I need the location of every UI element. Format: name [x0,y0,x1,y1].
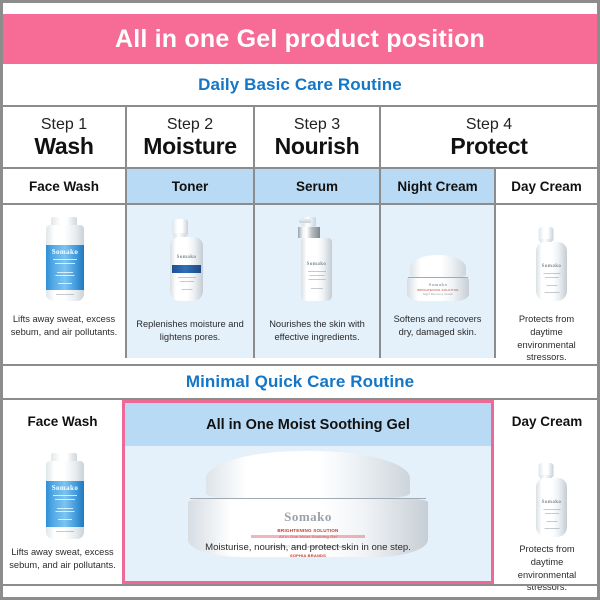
grid-divider [379,169,381,203]
daily-section-heading: Daily Basic Care Routine [3,64,597,107]
daily-heading-text: Daily Basic Care Routine [198,75,402,95]
quick-section-heading: Minimal Quick Care Routine [3,364,597,400]
step-3-name: Nourish [275,135,360,158]
grid-divider [494,400,496,584]
product-name-label: Serum [296,179,338,194]
step-4-name: Protect [450,135,527,158]
product-name-label: Face Wash [27,414,97,429]
grid-divider [253,169,255,203]
step-3-number: Step 3 [294,117,340,133]
product-name-label: Day Cream [512,414,583,429]
product-description-face-wash: Lifts away sweat, excess sebum, and air … [5,313,123,339]
quick-name-cell-day-cream: Day Cream [497,400,597,443]
gel-description: Moisturise, nourish, and protect skin in… [125,541,491,554]
product-name-label: Night Cream [397,179,477,194]
grid-divider [3,584,597,586]
grid-divider [494,169,496,203]
grid-divider [125,205,127,358]
product-description-serum: Nourishes the skin with effective ingred… [257,318,377,344]
step-1-number: Step 1 [41,117,87,133]
quick-heading-text: Minimal Quick Care Routine [186,372,414,392]
grid-divider [379,107,381,167]
product-name-cell-toner: Toner [127,169,253,203]
product-name-label: Toner [172,179,209,194]
grid-divider [122,400,124,584]
step-header-3: Step 3 Nourish [255,109,379,166]
all-in-one-gel-highlight-box: All in One Moist Soothing Gel Somako BRI… [122,400,494,584]
gel-product-name: All in One Moist Soothing Gel [206,417,410,433]
grid-divider [379,205,381,358]
grid-divider [494,205,496,358]
step-2-name: Moisture [143,135,236,158]
product-name-label: Face Wash [29,179,99,194]
product-image-night-cream: Somako BRIGHTENING SOLUTION Night Recove… [407,255,469,301]
step-header-2: Step 2 Moisture [127,109,253,166]
grid-divider [253,107,255,167]
quick-name-cell-face-wash: Face Wash [3,400,122,443]
page-title: All in one Gel product position [115,25,485,54]
grid-divider [125,169,127,203]
product-name-cell-day-cream: Day Cream [496,169,597,203]
grid-divider [253,205,255,358]
step-1-name: Wash [34,135,93,158]
step-header-4: Step 4 Protect [381,109,597,166]
product-name-cell-serum: Serum [255,169,379,203]
quick-description-day-cream: Protects from daytime environmental stre… [499,543,595,594]
product-description-day-cream: Protects from daytime environmental stre… [498,313,595,364]
product-name-label: Day Cream [511,179,582,194]
infographic-root: All in one Gel product position Daily Ba… [0,0,600,600]
product-description-toner: Replenishes moisture and lightens pores. [129,318,251,344]
grid-divider [125,107,127,167]
quick-description-face-wash: Lifts away sweat, excess sebum, and air … [5,546,120,572]
step-2-number: Step 2 [167,117,213,133]
product-description-night-cream: Softens and recovers dry, damaged skin. [383,313,492,339]
title-banner: All in one Gel product position [3,14,597,64]
product-name-cell-face-wash: Face Wash [3,169,125,203]
gel-title-bar: All in One Moist Soothing Gel [125,403,491,446]
product-name-cell-night-cream: Night Cream [381,169,494,203]
step-header-1: Step 1 Wash [3,109,125,166]
step-4-number: Step 4 [466,117,512,133]
